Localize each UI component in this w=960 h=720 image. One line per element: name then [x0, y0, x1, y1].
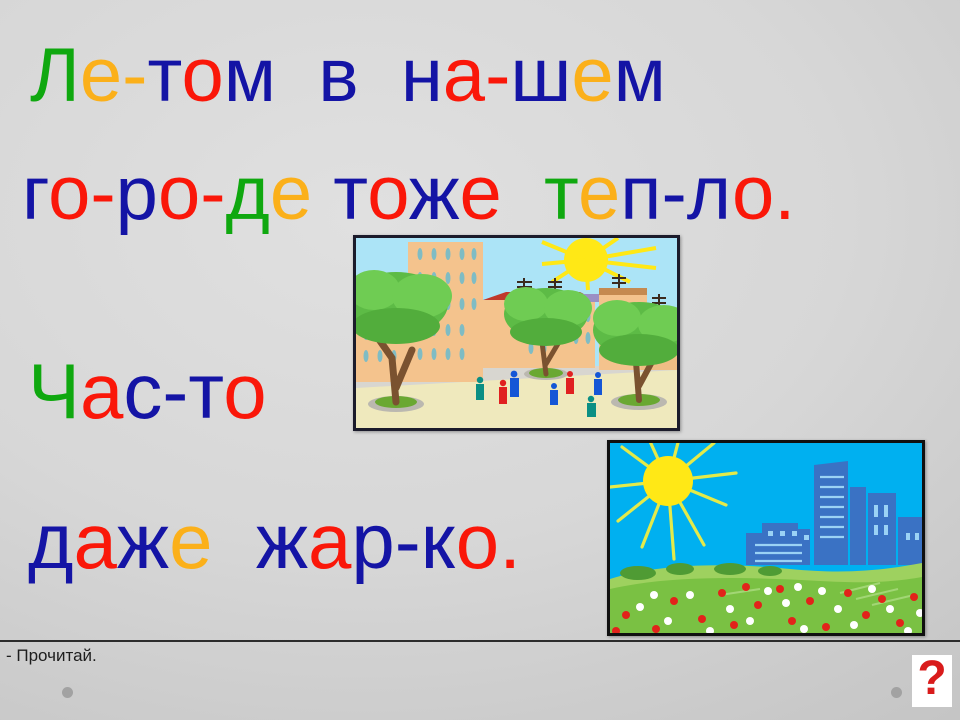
letter: т — [333, 151, 367, 236]
letter: е — [460, 151, 502, 236]
letter: - — [200, 151, 225, 236]
letter: - — [485, 33, 510, 118]
letter: е — [270, 151, 312, 236]
letter: д — [226, 151, 270, 236]
letter: о — [456, 497, 499, 585]
letter: е — [571, 33, 613, 118]
letter: д — [28, 497, 74, 585]
letter: Ч — [28, 347, 80, 435]
letter — [312, 151, 333, 236]
letter: Л — [30, 33, 80, 118]
footer-instruction: - Прочитай. — [6, 646, 97, 666]
letter: а — [443, 33, 485, 118]
letter: е — [169, 497, 212, 585]
decorative-dot-left — [62, 687, 73, 698]
footer-divider — [0, 640, 960, 642]
slide-canvas: Ле-том в на-шем го-ро-де тоже теп-ло. Ча… — [0, 0, 960, 720]
letter: е — [80, 33, 122, 118]
image-sunny-city[interactable] — [607, 440, 925, 636]
reading-line-4: даже жар-ко. — [28, 502, 521, 580]
letter: - — [395, 497, 421, 585]
reading-line-1: Ле-том в на-шем — [30, 38, 666, 114]
letter: а — [308, 497, 351, 585]
letter: . — [774, 151, 795, 236]
letter: т — [544, 151, 578, 236]
letter: о — [48, 151, 90, 236]
letter: с — [123, 347, 162, 435]
letter: о — [367, 151, 408, 236]
letter: м — [224, 33, 276, 118]
letter: о — [181, 33, 223, 118]
letter: л — [687, 151, 732, 236]
letter — [212, 497, 255, 585]
letter: - — [661, 151, 686, 236]
letter: п — [620, 151, 661, 236]
help-badge[interactable]: ? — [912, 655, 952, 707]
reading-line-2: го-ро-де тоже теп-ло. — [22, 156, 795, 232]
letter: - — [162, 347, 188, 435]
letter: т — [188, 347, 223, 435]
question-mark-icon: ? — [917, 655, 946, 703]
letter: о — [223, 347, 266, 435]
letter: о — [732, 151, 774, 236]
letter: р — [116, 151, 158, 236]
letter: к — [421, 497, 456, 585]
reading-line-3: Час-то — [28, 352, 267, 430]
letter: о — [158, 151, 200, 236]
letter: р — [351, 497, 394, 585]
letter: - — [90, 151, 115, 236]
letter: а — [80, 347, 123, 435]
letter: е — [578, 151, 620, 236]
letter — [359, 33, 401, 118]
letter: ж — [117, 497, 169, 585]
decorative-dot-right — [891, 687, 902, 698]
letter: в — [318, 33, 358, 118]
letter: н — [401, 33, 443, 118]
letter — [276, 33, 318, 118]
sunny-city-illustration — [610, 443, 922, 633]
letter: . — [499, 497, 521, 585]
letter: м — [614, 33, 666, 118]
image-city-street[interactable] — [353, 235, 680, 431]
letter — [502, 151, 544, 236]
city-street-illustration — [356, 238, 677, 428]
letter: ж — [256, 497, 308, 585]
letter: а — [74, 497, 117, 585]
letter: ш — [510, 33, 571, 118]
letter: т — [147, 33, 181, 118]
letter: - — [122, 33, 147, 118]
letter: г — [22, 151, 48, 236]
letter: ж — [409, 151, 460, 236]
